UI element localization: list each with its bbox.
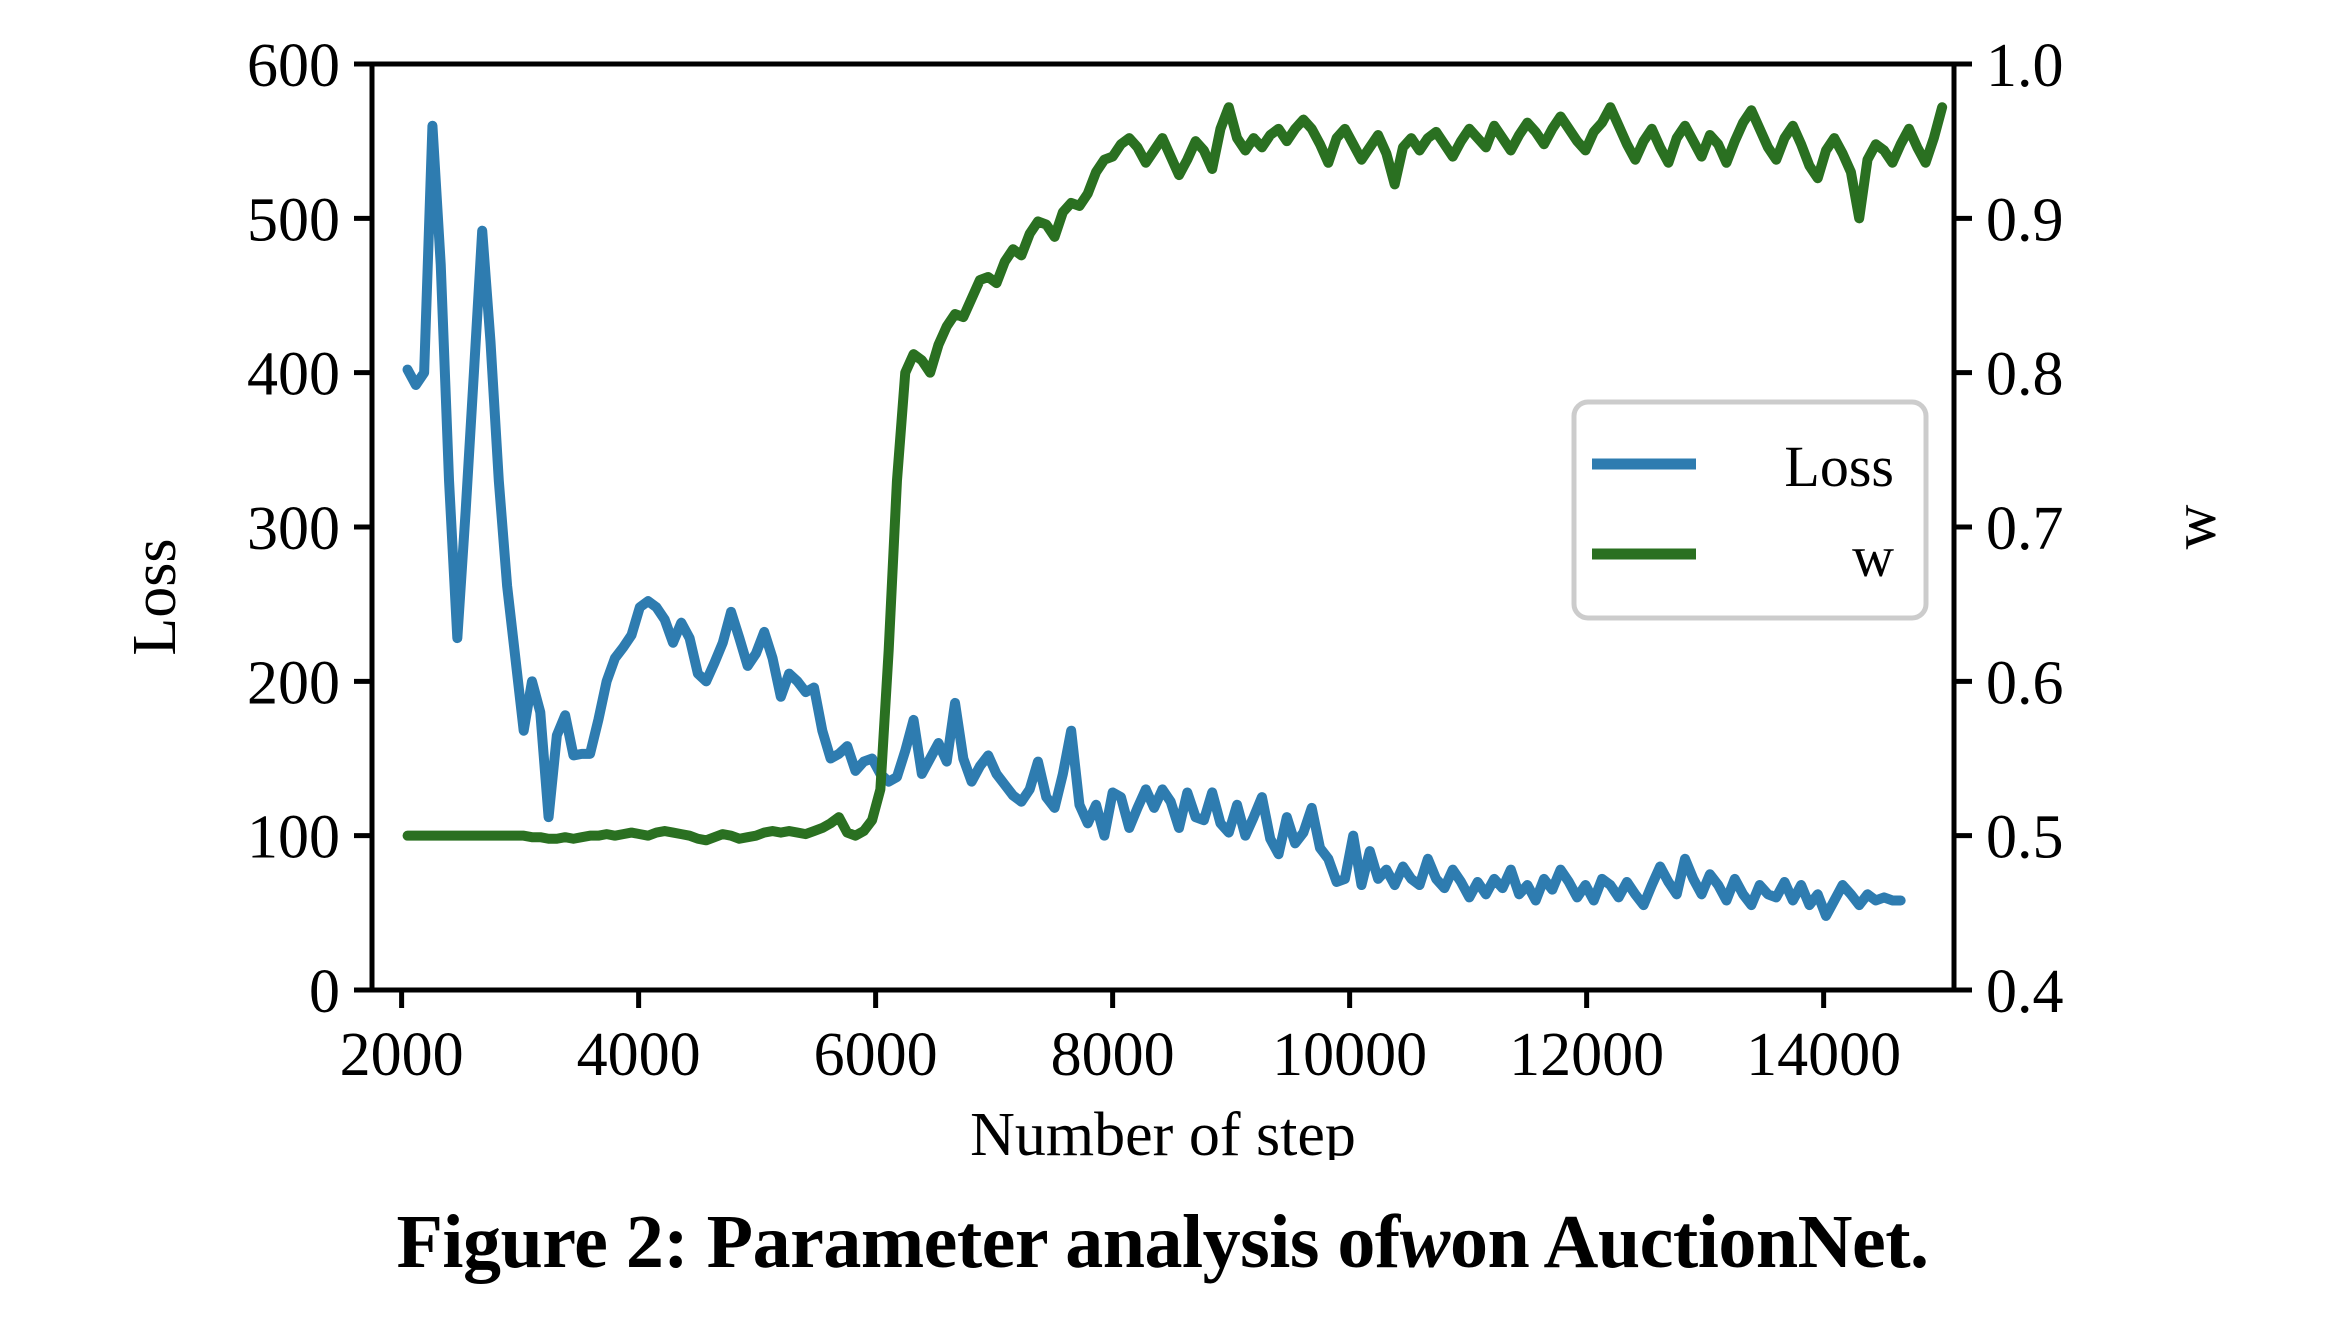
y-tick-label-left: 600 — [247, 32, 340, 100]
y-tick-label-right: 0.9 — [1986, 186, 2064, 254]
caption-prefix: Figure 2: Parameter analysis of — [396, 1199, 1399, 1286]
y-tick-label-right: 0.7 — [1986, 495, 2064, 563]
y-tick-label-left: 0 — [309, 958, 340, 1026]
x-tick-label: 2000 — [340, 1021, 464, 1089]
y-tick-label-right: 0.6 — [1986, 649, 2064, 717]
chart-canvas: 01002003004005006000.40.50.60.70.80.91.0… — [0, 0, 2325, 1160]
y-tick-label-left: 100 — [247, 804, 340, 872]
y-tick-label-left: 200 — [247, 649, 340, 717]
legend-label-loss: Loss — [1784, 434, 1894, 499]
y-tick-label-right: 0.5 — [1986, 804, 2064, 872]
x-tick-label: 6000 — [814, 1021, 938, 1089]
caption-suffix: on AuctionNet. — [1450, 1199, 1929, 1286]
caption-italic-w: w — [1400, 1199, 1450, 1286]
figure-caption: Figure 2: Parameter analysis of w on Auc… — [0, 1160, 2325, 1325]
x-tick-label: 10000 — [1272, 1021, 1427, 1089]
y-tick-label-left: 300 — [247, 495, 340, 563]
y-tick-label-left: 500 — [247, 186, 340, 254]
y-tick-label-right: 1.0 — [1986, 32, 2064, 100]
y-tick-label-right: 0.8 — [1986, 341, 2064, 409]
legend-label-w: w — [1852, 524, 1894, 589]
x-tick-label: 12000 — [1509, 1021, 1664, 1089]
legend-group[interactable]: Lossw — [1574, 402, 1926, 618]
y-axis-title-right: w — [2161, 504, 2229, 549]
y-axis-title-left: Loss — [121, 538, 189, 655]
y-tick-label-right: 0.4 — [1986, 958, 2064, 1026]
y-tick-label-left: 400 — [247, 341, 340, 409]
x-axis-title: Number of step — [970, 1101, 1356, 1160]
x-tick-label: 4000 — [577, 1021, 701, 1089]
x-tick-label: 8000 — [1051, 1021, 1175, 1089]
x-tick-label: 14000 — [1746, 1021, 1901, 1089]
figure-container: 01002003004005006000.40.50.60.70.80.91.0… — [0, 0, 2325, 1325]
